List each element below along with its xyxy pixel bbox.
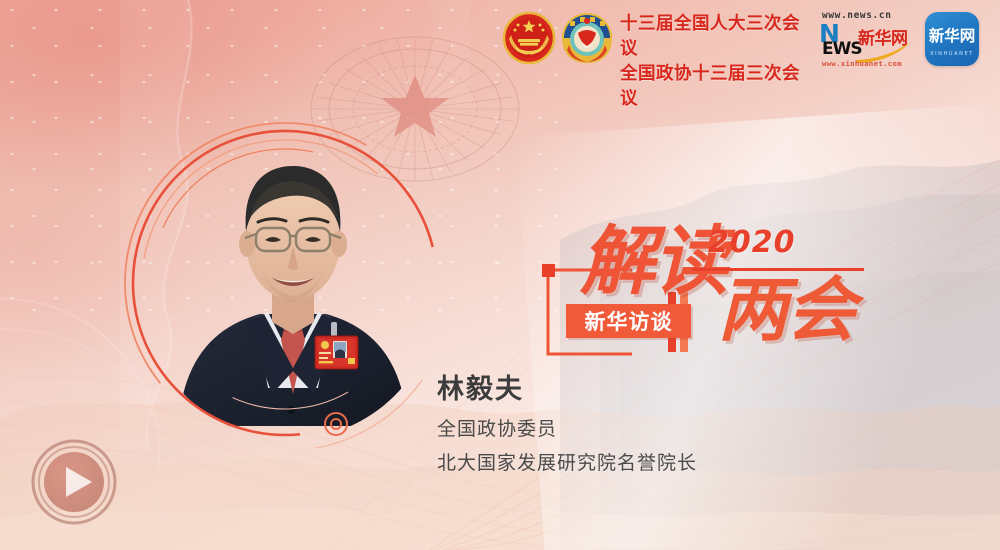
guest-name: 林毅夫 — [437, 372, 887, 408]
title-year: 2020 — [708, 225, 796, 260]
guest-organization: 北大国家发展研究院名誉院长 — [437, 448, 887, 478]
program-title-graphic: 解读 2020 两会 新华访谈 — [540, 220, 860, 370]
xinhua-app-label-en: XINHUANET — [925, 51, 979, 57]
xinhua-url-bottom: www.xinhuanet.com — [822, 59, 902, 68]
program-badge-label: 新华访谈 — [585, 306, 673, 336]
interview-poster: 十三届全国人大三次会议 全国政协十三届三次会议 www.news.cn N EW… — [0, 0, 1000, 550]
guest-info: 林毅夫 全国政协委员 北大国家发展研究院名誉院长 — [437, 372, 887, 478]
portrait-ring-decoration — [120, 118, 450, 448]
cppcc-emblem-icon — [560, 11, 614, 65]
program-badge: 新华访谈 — [566, 304, 691, 338]
xinhua-app-label-cn: 新华网 — [925, 24, 979, 46]
meeting-title-block: 十三届全国人大三次会议 全国政协十三届三次会议 — [620, 12, 800, 112]
title-word-jiedu: 解读 — [580, 224, 726, 299]
title-word-lianghui: 两会 — [718, 275, 854, 345]
poster-header: 十三届全国人大三次会议 全国政协十三届三次会议 www.news.cn N EW… — [0, 0, 1000, 78]
guest-portrait — [140, 78, 440, 458]
xinhua-app-icon[interactable]: 新华网 XINHUANET — [925, 12, 979, 66]
ring-dot-decoration — [325, 413, 347, 435]
xinhua-news-logo[interactable]: www.news.cn N EWS 新华网 www.xinhuanet.com — [818, 10, 910, 68]
meeting-title-line-2: 全国政协十三届三次会议 — [620, 62, 800, 112]
guest-role: 全国政协委员 — [437, 414, 887, 444]
play-video-button[interactable] — [30, 438, 118, 526]
meeting-title-line-1: 十三届全国人大三次会议 — [620, 12, 800, 62]
xinhua-news-mark: N EWS 新华网 — [818, 22, 910, 58]
national-emblem-icon — [502, 11, 556, 65]
